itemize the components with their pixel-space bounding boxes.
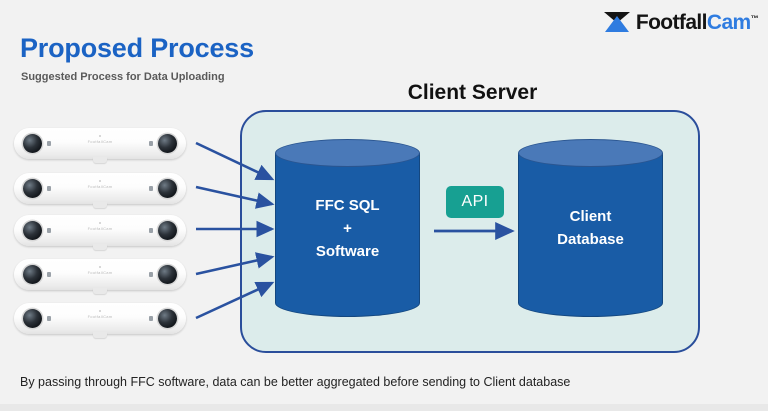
- ffc-sql-software-label: FFC SQL + Software: [275, 139, 420, 317]
- sensor-device-1: FootfallCam: [14, 128, 186, 159]
- sensor-mount-tab: [93, 157, 107, 163]
- ffc-label-line-2: +: [343, 217, 352, 240]
- page-subtitle: Suggested Process for Data Uploading: [21, 71, 225, 83]
- footfallcam-logo: FootfallCam™: [602, 8, 758, 34]
- logo-trademark: ™: [751, 14, 758, 23]
- sensor-brand-label: FootfallCam: [14, 314, 186, 319]
- sensor-indicator-dot: [99, 135, 101, 137]
- api-badge: API: [446, 186, 504, 218]
- ffc-sql-software-cylinder: FFC SQL + Software: [275, 139, 420, 317]
- bottom-bar: [0, 404, 768, 411]
- footer-caption: By passing through FFC software, data ca…: [20, 375, 570, 389]
- sensor-device-3: FootfallCam: [14, 215, 186, 246]
- sensor-brand-label: FootfallCam: [14, 270, 186, 275]
- sensor-indicator-dot: [99, 222, 101, 224]
- api-badge-label: API: [462, 193, 489, 211]
- client-label-line-1: Client: [570, 205, 612, 228]
- sensor-mount-tab: [93, 332, 107, 338]
- sensor-indicator-dot: [99, 310, 101, 312]
- ffc-label-line-3: Software: [316, 240, 379, 263]
- sensor-mount-tab: [93, 288, 107, 294]
- page-title: Proposed Process: [20, 33, 254, 64]
- sensor-device-2: FootfallCam: [14, 173, 186, 204]
- sensor-brand-label: FootfallCam: [14, 226, 186, 231]
- client-database-cylinder: Client Database: [518, 139, 663, 317]
- sensor-indicator-dot: [99, 180, 101, 182]
- client-label-line-2: Database: [557, 228, 624, 251]
- logo-text-part2: Cam: [707, 11, 751, 34]
- client-database-label: Client Database: [518, 139, 663, 317]
- client-server-label: Client Server: [240, 81, 705, 105]
- sensor-brand-label: FootfallCam: [14, 139, 186, 144]
- footfallcam-triangle-icon: [602, 9, 632, 33]
- sensor-device-5: FootfallCam: [14, 303, 186, 334]
- sensor-indicator-dot: [99, 266, 101, 268]
- sensor-device-4: FootfallCam: [14, 259, 186, 290]
- sensor-brand-label: FootfallCam: [14, 184, 186, 189]
- sensor-mount-tab: [93, 202, 107, 208]
- logo-text-part1: Footfall: [636, 11, 707, 34]
- slide-canvas: Proposed Process Suggested Process for D…: [0, 0, 768, 411]
- logo-wordmark: FootfallCam™: [636, 8, 758, 34]
- sensor-mount-tab: [93, 244, 107, 250]
- ffc-label-line-1: FFC SQL: [315, 194, 379, 217]
